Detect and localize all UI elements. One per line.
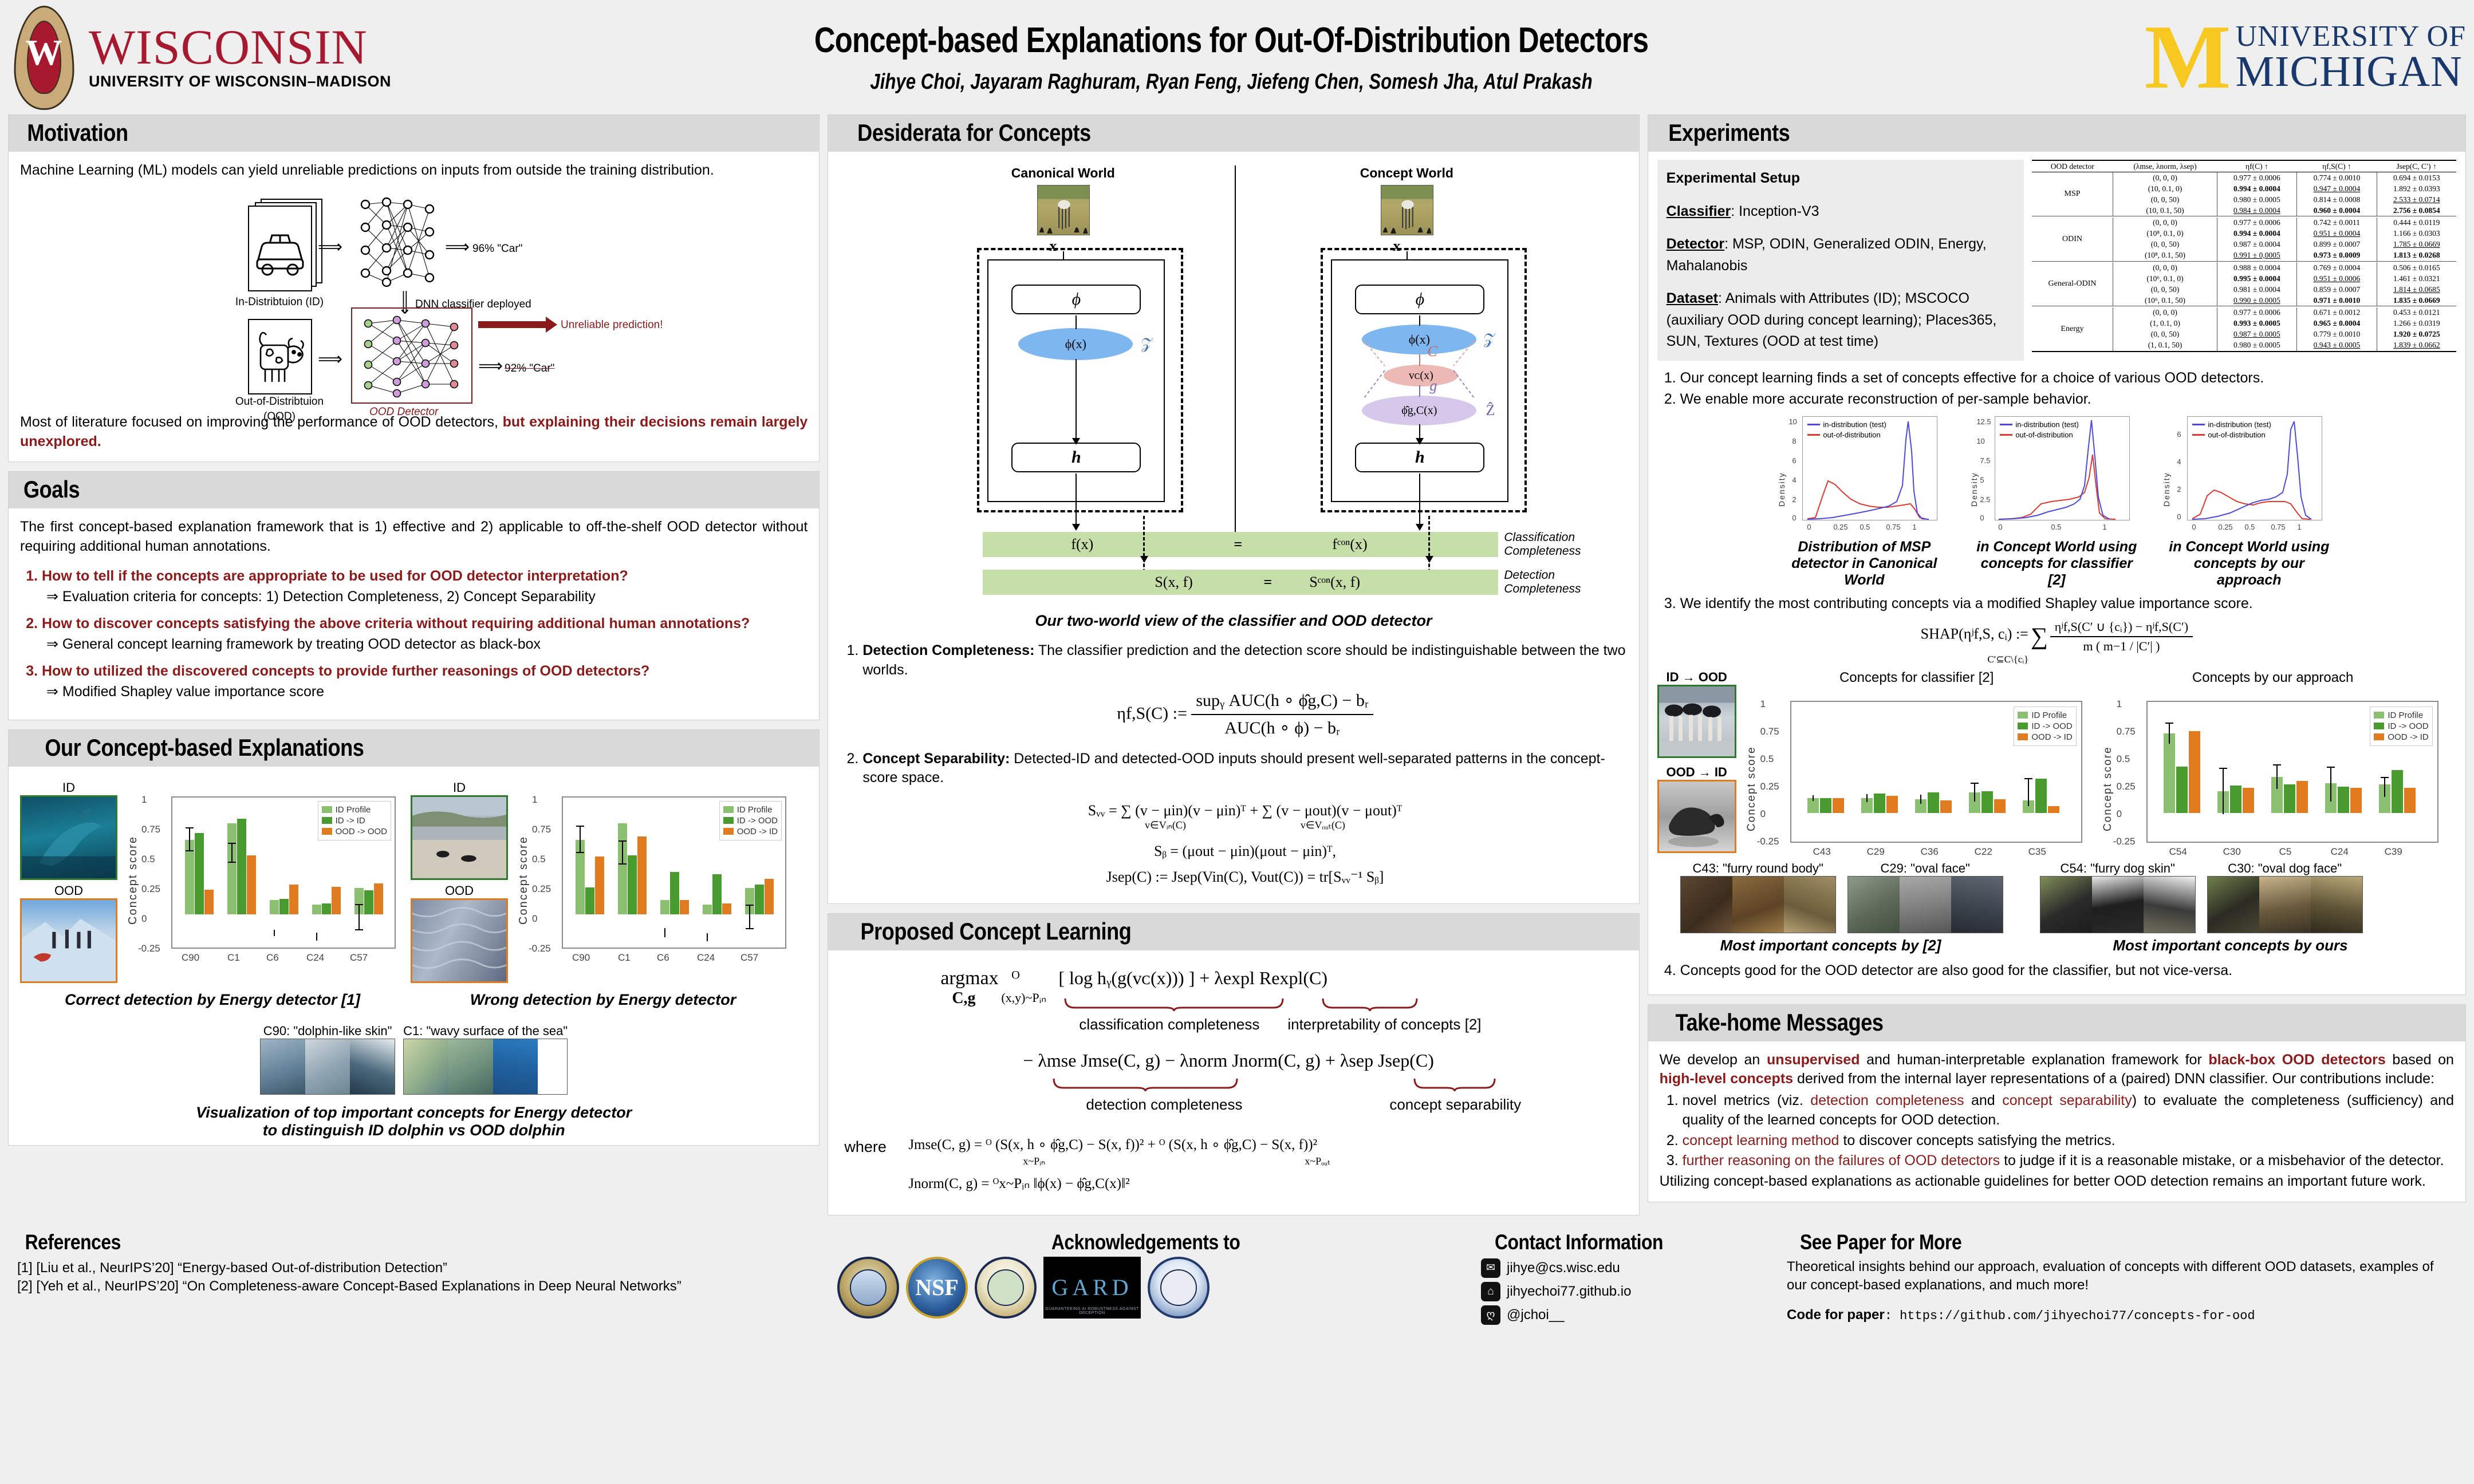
cell-etafs: 0.671 ± 0.0012 — [2297, 307, 2377, 318]
chart2-ytick: 0.75 — [532, 824, 551, 835]
dens1-xtick: 0.75 — [1886, 523, 1900, 531]
panel-experiments: Experiments Experimental Setup Classifie… — [1648, 115, 2466, 995]
chart6-ytick: 1 — [2117, 698, 2122, 710]
objective-line-1: argmax C,g ᴼ (x,y)~Pᵢₙ [ log hᵧ(g(vᴄ(x))… — [840, 964, 1627, 1044]
dens3-ytick: 6 — [2177, 430, 2181, 439]
concept-group-c1: C1: "wavy surface of the sea" — [403, 1024, 568, 1095]
dens1-xtick: 1 — [1912, 523, 1916, 531]
chart2-ytick: -0.25 — [529, 943, 551, 954]
cell-params: (10⁶, 0.1, 0) — [2113, 273, 2217, 284]
detector-caption: OOD Detector — [369, 406, 438, 419]
concept-patch — [2259, 877, 2311, 933]
concept-z-symbol: 𝒵 — [1484, 331, 1495, 349]
chart2-xtick: C57 — [740, 952, 758, 964]
shap-numerator: ηʲf,S(C′ ∪ {cᵢ}) − ηʲf,S(C′) — [2050, 619, 2193, 637]
legend-label: OOD -> ID — [2388, 732, 2428, 742]
air-force-seal-icon — [837, 1257, 899, 1319]
cow-icon — [249, 320, 311, 393]
col-header-etaf: ηf(C) ↑ — [2217, 160, 2297, 172]
legend-label: ID -> OOD — [2031, 721, 2072, 731]
home-icon: ⌂ — [1481, 1282, 1500, 1301]
chart5-xtick: C36 — [1921, 846, 1939, 858]
dens1-ytick: 0 — [1792, 514, 1796, 522]
dens2-plot-area: in-distribution (test) out-of-distributi… — [1995, 416, 2130, 520]
density-plot-classifier-concepts: Density 12.5 10 7.5 5 2.5 0 — [1971, 415, 2142, 589]
contact-email-value: jihye@cs.wisc.edu — [1507, 1260, 1620, 1276]
f-x-label: f(x) — [1071, 536, 1093, 553]
contact-website-value: jihyechoi77.github.io — [1507, 1284, 1632, 1300]
experimental-setup: Experimental Setup Classifier: Inception… — [1657, 160, 2024, 361]
chart1-xtick: C6 — [266, 952, 279, 964]
panel-title-concept-learning: Proposed Concept Learning — [828, 914, 1638, 950]
expectation-symbol: ᴼ — [1011, 968, 1019, 989]
goals-list: How to tell if the concepts are appropri… — [20, 567, 807, 701]
concept-patch — [1784, 877, 1835, 933]
cell-params: (10⁸, 0.1, 0) — [2113, 228, 2217, 239]
id-prediction: 96% "Car" — [472, 243, 587, 255]
concept-patch — [1848, 877, 1900, 933]
dens3-caption: in Concept World using concepts by our a… — [2163, 539, 2335, 589]
legend-label: ID Profile — [336, 805, 371, 815]
chart6-ytick: 0.75 — [2117, 726, 2136, 737]
canonical-phi-x: ϕ(x) — [1065, 337, 1086, 352]
eq-jmse-sub2: x~Pₒᵤₜ — [1305, 1155, 1330, 1167]
panel-motivation: Motivation Machine Learning (ML) models … — [8, 115, 820, 462]
cell-jsep: 1.166 ± 0.0303 — [2377, 228, 2456, 239]
row-detector-energy: Energy — [2032, 307, 2113, 352]
legend-label: ID -> OOD — [737, 816, 778, 826]
dens2-xtick: 1 — [2102, 523, 2106, 531]
two-world-diagram: Canonical World Concept World — [840, 161, 1627, 562]
dens2-xtick: 0 — [1998, 523, 2002, 531]
chart5-ytick: 0.25 — [1760, 781, 1779, 792]
detection-completeness-row: S(x, f) = Sᶜᵒⁿ(x, f) Detection Completen… — [840, 562, 1627, 614]
cell-params: (1, 0.1, 0) — [2113, 318, 2217, 329]
eq-eta-denominator: AUC(h ∘ ϕ) − bᵣ — [1191, 715, 1373, 740]
canonical-z-symbol: 𝒵 — [1141, 336, 1153, 353]
cell-etaf: 0.991 ± 0,0005 — [2217, 250, 2297, 262]
chart6-ytick: 0.5 — [2117, 753, 2130, 765]
argmax-label: argmax — [940, 968, 998, 989]
chart6-xtick: C39 — [2385, 846, 2402, 858]
concept-patch — [1900, 877, 1951, 933]
crest-letter: W — [26, 34, 62, 71]
chart1-xtick: C1 — [227, 952, 240, 964]
envelope-icon: ✉ — [1481, 1258, 1500, 1278]
chart5-ylabel: Concept score — [1746, 746, 1758, 831]
chart6-xtick: C54 — [2169, 846, 2187, 858]
chart6-ytick: -0.25 — [2113, 836, 2136, 847]
dens1-ytick: 4 — [1792, 476, 1796, 484]
cell-etafs: 0.960 ± 0.0004 — [2297, 205, 2377, 216]
shap-chart-row: ID → OOD OOD → ID — [1657, 670, 2456, 858]
ack-heading: Acknowledgements to — [837, 1230, 1455, 1254]
footer-contact: Contact Information ✉ jihye@cs.wisc.edu … — [1472, 1225, 1770, 1331]
cell-etaf: 0.994 ± 0.0004 — [2217, 183, 2297, 194]
explanations-bottom-caption-line2: to distinguish ID dolphin vs OOD dolphin — [20, 1122, 807, 1139]
cell-etafs: 0.779 ± 0.0010 — [2297, 329, 2377, 340]
cell-jsep: 2.533 ± 0.0714 — [2377, 194, 2456, 205]
objective-line-2: − λmse Jmse(C, g) − λnorm Jnorm(C, g) + … — [840, 1044, 1627, 1130]
eq-jsep: Jsep(C) := Jsep(Vin(C), Vout(C)) = tr[Sᵥ… — [862, 867, 1627, 887]
eq-sw-main: Sᵥᵥ = ∑ (v − μin)(v − μin)ᵀ + ∑ (v − μou… — [862, 800, 1627, 820]
criterion-title: Detection Completeness: — [862, 642, 1034, 658]
brace-label-interpretability: interpretability of concepts [2] — [1287, 1016, 1481, 1033]
classification-completeness-bar: f(x) = fᶜᵒⁿ(x) — [983, 532, 1498, 557]
dens3-legend: in-distribution (test) out-of-distributi… — [2192, 420, 2271, 441]
chart6-xtick: C5 — [2279, 846, 2292, 858]
arrow-ood-pred-icon: ⟹ — [478, 358, 503, 375]
classification-completeness-note: Classification Completeness — [1504, 531, 1618, 558]
panel-title-experiments: Experiments — [1648, 115, 2465, 152]
chart2-xtick: C6 — [657, 952, 669, 964]
zebra-thumbnail-concept — [1381, 185, 1433, 235]
row-detector-general-odin: General-ODIN — [2032, 262, 2113, 306]
cell-params: (10, 0.1, 50) — [2113, 205, 2217, 216]
cell-jsep: 1.835 ± 0.0669 — [2377, 295, 2456, 306]
cell-etafs: 0.971 ± 0.0010 — [2297, 295, 2377, 306]
setup-title: Experimental Setup — [1667, 168, 2015, 190]
goal-answer: ⇒ Modified Shapley value importance scor… — [42, 682, 807, 701]
dens2-ytick: 0 — [1980, 514, 1984, 522]
panel-our-explanations: Our Concept-based Explanations ID — [8, 729, 820, 1146]
cell-params: (10⁶, 0.1, 50) — [2113, 295, 2217, 306]
dens1-caption: Distribution of MSP detector in Canonica… — [1778, 539, 1950, 589]
references-heading: References — [17, 1230, 811, 1254]
canonical-phi-box: ϕ — [1011, 285, 1141, 314]
footer-acknowledgements: Acknowledgements to NSF GARD GUARANTEEIN… — [828, 1225, 1464, 1331]
cell-etaf: 0.977 ± 0.0006 — [2217, 307, 2297, 318]
ood-input-card — [248, 319, 312, 394]
concept-patch — [350, 1039, 395, 1094]
eq-sw-sub1: v∈Vᵢₙ(C) — [1145, 819, 1186, 831]
brace-label-detection: detection completeness — [1086, 1096, 1242, 1114]
chart6-title: Concepts by our approach — [2097, 670, 2449, 686]
objective-term1: [ log hᵧ(g(vᴄ(x))) ] + λexpl Rexpl(C) — [1058, 968, 1327, 989]
chart6-xtick: C30 — [2223, 846, 2241, 858]
chart1-xtick: C57 — [350, 952, 368, 964]
legend-label: out-of-distribution — [1823, 431, 1880, 439]
cell-etafs: 0.951 ± 0.0004 — [2297, 228, 2377, 239]
paper-text: Theoretical insights behind our approach… — [1787, 1258, 2453, 1295]
cell-etaf: 0.981 ± 0.0004 — [2217, 284, 2297, 295]
wisconsin-subtitle: UNIVERSITY OF WISCONSIN–MADISON — [89, 73, 391, 90]
dens1-ytick: 6 — [1792, 456, 1796, 465]
right-example-caption: Wrong detection by Energy detector — [411, 991, 795, 1009]
id-label: In-Distribtuion (ID) — [231, 296, 328, 309]
wisconsin-crest-icon: W — [8, 5, 80, 110]
wisconsin-wordmark: WISCONSIN — [89, 24, 391, 71]
cell-etaf: 0.990 ± 0.0005 — [2217, 295, 2297, 306]
concept-c30-title: C30: "oval dog face" — [2207, 861, 2363, 876]
contact-email[interactable]: ✉ jihye@cs.wisc.edu — [1481, 1258, 1760, 1278]
cell-jsep: 1.814 ± 0.0685 — [2377, 284, 2456, 295]
concept-c43-title: C43: "furry round body" — [1680, 861, 1836, 876]
criterion-concept-separability: Concept Separability: Detected-ID and de… — [862, 749, 1627, 887]
ood-prediction: 92% "Car" — [505, 362, 642, 375]
finding-4: Concepts good for the OOD detector are a… — [1680, 961, 2456, 981]
panel-title-goals: Goals — [9, 472, 819, 508]
detection-completeness-note: Detection Completeness — [1504, 569, 1618, 596]
f-con-x-label: fᶜᵒⁿ(x) — [1332, 536, 1367, 553]
goals-intro: The first concept-based explanation fram… — [20, 518, 807, 556]
cell-jsep: 1.461 ± 0.0321 — [2377, 273, 2456, 284]
michigan-line2: MICHIGAN — [2235, 51, 2466, 92]
goal-question: How to discover concepts satisfying the … — [42, 615, 750, 632]
col-header-params: (λmse, λnorm, λsep) — [2113, 160, 2217, 172]
chart2-xtick: C24 — [697, 952, 715, 964]
footer-see-paper: See Paper for More Theoretical insights … — [1778, 1225, 2463, 1331]
dens1-ytick: 2 — [1792, 495, 1796, 504]
cell-params: (0, 0, 50) — [2113, 239, 2217, 250]
eq-detection-completeness: ηf,S(C) := supᵧ AUC(h ∘ ϕ̂g,C) − bᵣ AUC(… — [862, 689, 1627, 740]
concept-c54-title: C54: "furry dog skin" — [2040, 861, 2196, 876]
ood-detector-box — [351, 307, 472, 404]
unreliable-prediction-label: Unreliable prediction! — [561, 319, 755, 331]
cell-etaf: 0.995 ± 0.0004 — [2217, 273, 2297, 284]
chart-wrong-detection-energy: Concept score 1 0.75 0.5 0.25 0 -0.25 — [513, 780, 794, 967]
dept-commerce-seal-icon — [1148, 1257, 1210, 1319]
dens3-ytick: 4 — [2177, 457, 2181, 466]
goal-item-2: How to discover concepts satisfying the … — [42, 614, 807, 654]
cell-jsep: 0.694 ± 0.0153 — [2377, 172, 2456, 184]
th-seg: and human-interpretable explanation fram… — [1860, 1052, 2209, 1068]
cell-etaf: 0.977 ± 0.0006 — [2217, 218, 2297, 228]
zebra-thumbnail-canonical — [1037, 185, 1090, 235]
canonical-h-box: h — [1011, 443, 1141, 472]
ack-logo-row: NSF GARD GUARANTEEING AI ROBUSTNESS AGAI… — [837, 1257, 1455, 1319]
footer-references: References [1] [Liu et al., NeurIPS’20] … — [8, 1225, 820, 1331]
col-header-detector: OOD detector — [2032, 160, 2113, 172]
chart2-ytick: 1 — [532, 794, 537, 806]
dens2-legend: in-distribution (test) out-of-distributi… — [2000, 420, 2079, 441]
density-plot-row: Density 10 8 6 4 2 0 — [1657, 415, 2456, 589]
panel-title-takehome: Take-home Messages — [1648, 1005, 2465, 1041]
dens3-ytick: 0 — [2177, 512, 2181, 521]
chart1-ytick: -0.25 — [138, 943, 160, 954]
cell-etaf: 0.987 ± 0.0004 — [2217, 239, 2297, 250]
cell-etafs: 0.769 ± 0.0004 — [2297, 262, 2377, 273]
contact-website[interactable]: ⌂ jihyechoi77.github.io — [1481, 1282, 1760, 1301]
s-xf-label: S(x, f) — [1155, 574, 1192, 591]
army-research-office-seal-icon — [975, 1257, 1037, 1319]
dens2-ytick: 5 — [1980, 476, 1984, 484]
dens2-ytick: 10 — [1976, 437, 1984, 445]
legend-label: ID -> ID — [336, 816, 365, 826]
concept-patch — [2208, 877, 2259, 933]
brace-detection — [1051, 1078, 1240, 1092]
thumbnail-ood-to-id — [1657, 780, 1736, 853]
criterion-detection-completeness: Detection Completeness: The classifier p… — [862, 641, 1627, 740]
dens1-xtick: 0.25 — [1833, 523, 1847, 531]
cell-jsep: 1.813 ± 0.0268 — [2377, 250, 2456, 262]
cell-etafs: 0.814 ± 0.0008 — [2297, 194, 2377, 205]
dens3-xtick: 0.25 — [2218, 523, 2232, 531]
contact-twitter[interactable]: ღ @jchoi__ — [1481, 1305, 1760, 1325]
page-title: Concept-based Explanations for Out-Of-Di… — [612, 20, 1851, 61]
cell-etafs: 0.899 ± 0.0007 — [2297, 239, 2377, 250]
reference-1: [1] [Liu et al., NeurIPS’20] “Energy-bas… — [17, 1259, 811, 1277]
cell-params: (0, 0, 50) — [2113, 329, 2217, 340]
chart2-xtick: C90 — [572, 952, 590, 964]
shap-sum-subscript: C′⊆C\{cᵢ} — [1560, 654, 2456, 665]
finding-2: We enable more accurate reconstruction o… — [1680, 390, 2456, 409]
concept-strip-row: C43: "furry round body" C29: "oval face" — [1657, 861, 2456, 933]
concept-patch — [1681, 877, 1732, 933]
poster-header: W WISCONSIN UNIVERSITY OF WISCONSIN–MADI… — [0, 0, 2474, 115]
chart6-ylabel: Concept score — [2102, 746, 2114, 831]
concept-h-box: h — [1355, 443, 1484, 472]
legend-label: ID Profile — [2388, 711, 2423, 720]
cell-etaf: 0.984 ± 0.0004 — [2217, 205, 2297, 216]
legend-label: in-distribution (test) — [2208, 420, 2271, 429]
contact-twitter-value: @jchoi__ — [1507, 1307, 1564, 1323]
cell-etaf: 0.994 ± 0.0004 — [2217, 228, 2297, 239]
cell-jsep: 0.506 ± 0.0165 — [2377, 262, 2456, 273]
chart-concepts-for-classifier: Concepts for classifier [2] Concept scor… — [1741, 670, 2093, 858]
chart1-ytick: 0.5 — [141, 854, 155, 865]
legend-label: in-distribution (test) — [2015, 420, 2079, 429]
chart1-ytick: 1 — [141, 794, 147, 806]
th-seg: We develop an — [1660, 1052, 1767, 1068]
panel-takehome: Take-home Messages We develop an unsuper… — [1648, 1004, 2466, 1202]
chart-concepts-by-our-approach: Concepts by our approach Concept score 1… — [2097, 670, 2449, 858]
dens3-ytick: 2 — [2177, 485, 2181, 494]
legend-label: OOD -> ID — [737, 827, 778, 836]
cell-params: (0, 0, 50) — [2113, 194, 2217, 205]
arrow-ood-to-detector-icon: ⟹ — [318, 351, 342, 368]
dens2-ytick: 7.5 — [1980, 456, 1990, 465]
chart5-xtick: C29 — [1867, 846, 1885, 858]
dens3-ylabel: Density — [2162, 472, 2171, 507]
car-icon — [249, 207, 311, 290]
concept-patch — [404, 1039, 448, 1094]
arrow-id-to-nn-icon: ⟹ — [318, 239, 342, 256]
twitter-icon: ღ — [1481, 1305, 1500, 1325]
col-header-jsep: Jsep(C, C′) ↑ — [2377, 160, 2456, 172]
brace-interpretability — [1321, 997, 1419, 1012]
concept-patch — [448, 1039, 493, 1094]
results-table: OOD detector (λmse, λnorm, λsep) ηf(C) ↑… — [2032, 160, 2456, 353]
panel-concept-learning: Proposed Concept Learning argmax C,g ᴼ (… — [828, 913, 1639, 1215]
code-label: Code for paper — [1787, 1307, 1885, 1323]
equals-sign-2: = — [1263, 574, 1272, 591]
cell-etafs: 0.947 ± 0.0004 — [2297, 183, 2377, 194]
goal-question: How to tell if the concepts are appropri… — [42, 568, 628, 584]
detector-label: Detector — [1667, 236, 1724, 252]
shap-sum-symbol: ∑ — [2031, 623, 2048, 650]
panel-title-our-explanations: Our Concept-based Explanations — [9, 730, 819, 767]
brace-label-classification: classification completeness — [1079, 1016, 1259, 1033]
row-detector-odin: ODIN — [2032, 218, 2113, 262]
where-label: where — [844, 1138, 887, 1156]
concept-patch — [2311, 877, 2362, 933]
chart5-xtick: C43 — [1813, 846, 1831, 858]
cell-etaf: 0.988 ± 0.0004 — [2217, 262, 2297, 273]
chart2-legend: ID Profile ID -> OOD OOD -> ID — [719, 801, 782, 840]
criteria-list: Detection Completeness: The classifier p… — [840, 641, 1627, 887]
density-plot-canonical: Density 10 8 6 4 2 0 — [1778, 415, 1950, 589]
eq-sb: Sᵦ = (μout − μin)(μout − μin)ᵀ, — [862, 841, 1627, 861]
ood-label-1: Out-of-Distribtuion — [231, 396, 328, 408]
shap-equation: SHAP(ηʲf,S, cᵢ) := ∑ ηʲf,S(C′ ∪ {cᵢ}) − … — [1657, 619, 2456, 665]
concept-patch — [1732, 877, 1784, 933]
chart5-ytick: 0 — [1760, 808, 1766, 820]
chart6-ytick: 0.25 — [2117, 781, 2136, 792]
legend-label: out-of-distribution — [2208, 431, 2265, 439]
cell-jsep: 1.892 ± 0.0393 — [2377, 183, 2456, 194]
dens3-xtick: 0 — [2192, 523, 2196, 531]
th-seg-highlight: high-level concepts — [1660, 1071, 1793, 1087]
cell-jsep: 0.444 ± 0.0119 — [2377, 218, 2456, 228]
findings-list: Our concept learning finds a set of conc… — [1657, 369, 2456, 410]
findings-list-3: Concepts good for the OOD detector are a… — [1657, 961, 2456, 981]
michigan-block-m-icon: M — [2144, 24, 2226, 90]
gard-logo-icon: GARD GUARANTEEING AI ROBUSTNESS AGAINST … — [1043, 1257, 1141, 1319]
chart1-xtick: C90 — [182, 952, 199, 964]
cell-etaf: 0.980 ± 0.0005 — [2217, 340, 2297, 352]
col-header-etafs: ηf,S(C) ↑ — [2297, 160, 2377, 172]
cell-params: (10, 0.1, 0) — [2113, 183, 2217, 194]
paper-heading: See Paper for More — [1787, 1230, 2453, 1254]
concept-world-label: Concept World — [1332, 165, 1481, 181]
code-link-row[interactable]: Code for paper: https://github.com/jihye… — [1787, 1307, 2453, 1323]
cell-params: (0, 0, 0) — [2113, 172, 2217, 184]
chart5-ytick: 0.75 — [1760, 726, 1779, 737]
panel-goals: Goals The first concept-based explanatio… — [8, 471, 820, 720]
dens1-ytick: 10 — [1788, 417, 1797, 426]
right-id-tag: ID — [411, 780, 508, 795]
left-id-tag: ID — [20, 780, 117, 795]
cell-params: (0, 0, 0) — [2113, 218, 2217, 228]
dens2-ylabel: Density — [1969, 472, 1979, 507]
id-to-ood-label: ID → OOD — [1657, 670, 1736, 685]
poster-footer: References [1] [Liu et al., NeurIPS’20] … — [0, 1225, 2474, 1331]
chart5-ytick: 0.5 — [1760, 753, 1774, 765]
row-detector-msp: MSP — [2032, 172, 2113, 216]
dens1-ytick: 8 — [1792, 437, 1796, 445]
world-divider — [1235, 165, 1236, 550]
thumbnail-id-to-ood — [1657, 685, 1736, 758]
left-example-caption: Correct detection by Energy detector [1] — [20, 991, 405, 1009]
concept-c29-title: C29: "oval face" — [1847, 861, 2003, 876]
chart1-legend: ID Profile ID -> ID OOD -> OOD — [318, 801, 391, 840]
motivation-intro: Machine Learning (ML) models can yield u… — [20, 161, 807, 180]
chart1-xtick: C24 — [306, 952, 324, 964]
density-plot-our-concepts: Density 6 4 2 0 in-dis — [2163, 415, 2335, 589]
cell-params: (1, 0.1, 50) — [2113, 340, 2217, 352]
chart1-ytick: 0.25 — [141, 883, 160, 895]
wisconsin-logo: W WISCONSIN UNIVERSITY OF WISCONSIN–MADI… — [0, 3, 475, 112]
contribution-3: further reasoning on the failures of OOD… — [1683, 1151, 2454, 1171]
ood-label-2: (OOD) — [231, 411, 328, 423]
legend-label: ID Profile — [2031, 711, 2067, 720]
eq-jnorm: Jnorm(C, g) = ᴼx~Pᵢₙ ‖ϕ(x) − ϕ̂g,C(x)‖² — [908, 1175, 1129, 1192]
th-seg: derived from the internal layer represen… — [1793, 1071, 2434, 1087]
criterion-title: Concept Separability: — [862, 751, 1010, 767]
dens1-ylabel: Density — [1777, 472, 1786, 507]
chart5-plot-area: ID Profile ID -> OOD OOD -> ID — [1790, 701, 2082, 843]
goal-item-1: How to tell if the concepts are appropri… — [42, 567, 807, 606]
chart2-ytick: 0.5 — [532, 854, 546, 865]
michigan-logo: M UNIVERSITY OF MICHIGAN — [1987, 3, 2474, 112]
canonical-world-label: Canonical World — [988, 165, 1137, 181]
cell-etaf: 0.980 ± 0.0005 — [2217, 194, 2297, 205]
chart-correct-detection-energy: Concept score 1 0.75 0.5 0.25 0 -0.25 — [122, 780, 404, 967]
detection-completeness-bar: S(x, f) = Sᶜᵒⁿ(x, f) — [983, 570, 1498, 595]
dens3-plot-area: in-distribution (test) out-of-distributi… — [2187, 416, 2322, 520]
chart2-ytick: 0 — [532, 913, 537, 925]
